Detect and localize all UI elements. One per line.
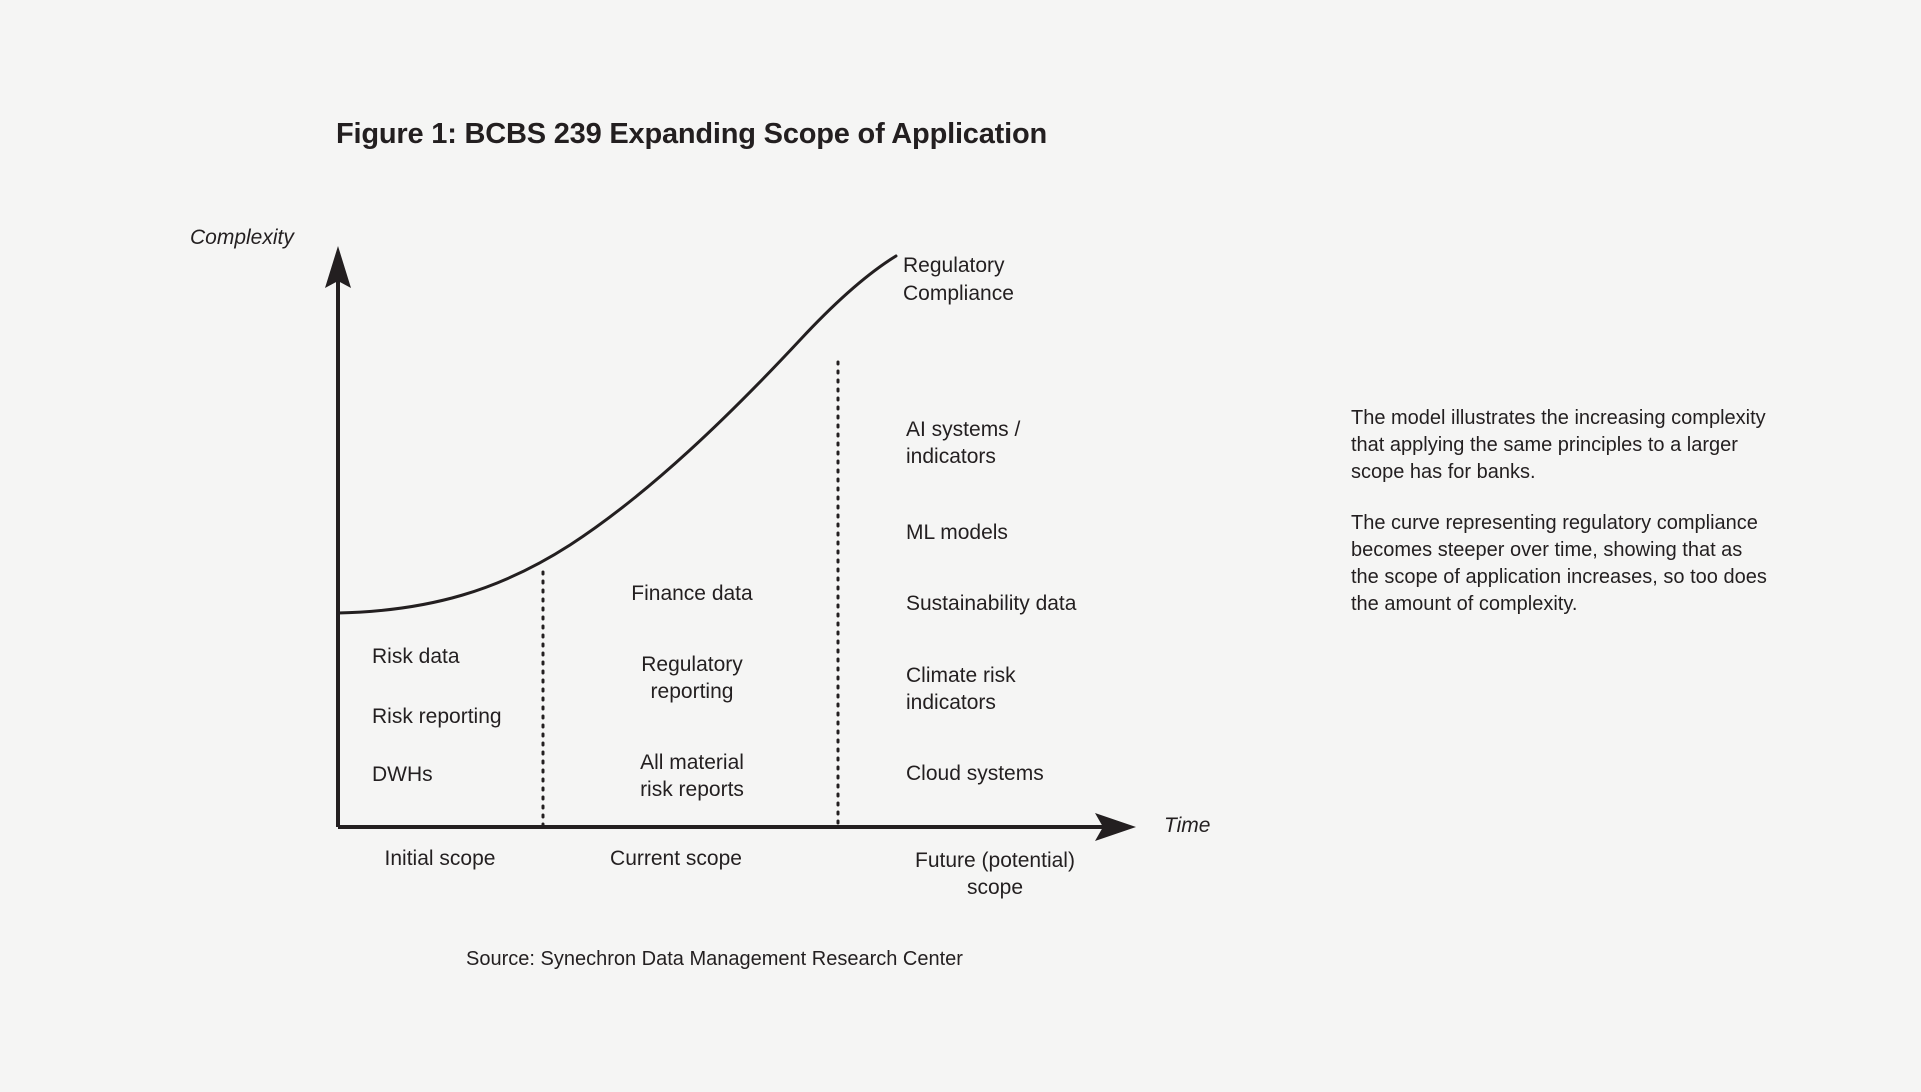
future-scope-item-cloud-systems: Cloud systems <box>906 760 1044 787</box>
scope-caption-future: Future (potential) scope <box>870 847 1120 901</box>
page-title: Figure 1: BCBS 239 Expanding Scope of Ap… <box>336 118 1047 151</box>
side-note-paragraph-1: The model illustrates the increasing com… <box>1351 405 1771 486</box>
initial-scope-item-dwhs: DWHs <box>372 761 433 788</box>
future-scope-item-ai-systems-indicators: AI systems / indicators <box>906 416 1020 470</box>
future-scope-item-ml-models: ML models <box>906 519 1008 546</box>
current-scope-item-all-material-risk-reports: All material risk reports <box>570 749 814 803</box>
regulatory-compliance-curve <box>338 256 896 613</box>
current-scope-item-regulatory-reporting: Regulatory reporting <box>570 651 814 705</box>
side-notes: The model illustrates the increasing com… <box>1351 405 1771 618</box>
current-scope-item-finance-data: Finance data <box>570 580 814 607</box>
scope-caption-initial: Initial scope <box>340 845 540 872</box>
curve-label: Regulatory Compliance <box>903 252 1014 308</box>
initial-scope-item-risk-reporting: Risk reporting <box>372 703 502 730</box>
x-axis <box>338 813 1136 841</box>
initial-scope-item-risk-data: Risk data <box>372 643 460 670</box>
figure-root: Figure 1: BCBS 239 Expanding Scope of Ap… <box>0 0 1921 1092</box>
future-scope-item-climate-risk-indicators: Climate risk indicators <box>906 662 1016 716</box>
y-axis <box>325 246 351 827</box>
y-axis-label: Complexity <box>190 226 294 250</box>
x-axis-label: Time <box>1164 814 1210 838</box>
scope-caption-current: Current scope <box>556 845 796 872</box>
future-scope-item-sustainability-data: Sustainability data <box>906 590 1076 617</box>
side-note-paragraph-2: The curve representing regulatory compli… <box>1351 510 1771 618</box>
source-note: Source: Synechron Data Management Resear… <box>466 948 963 971</box>
